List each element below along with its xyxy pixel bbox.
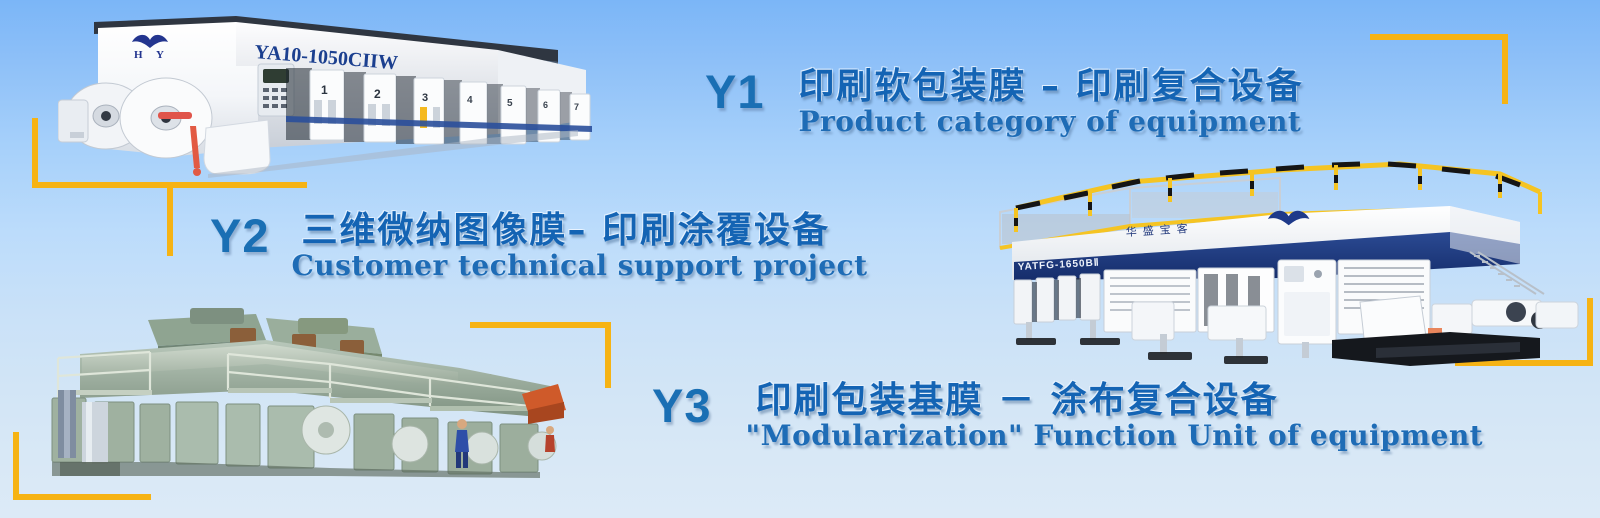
bracket-left-horizontal [32,182,167,188]
entry-y1-title-en: Product category of equipment [799,107,1304,136]
bracket-topright-vertical [1502,34,1508,104]
svg-text:2: 2 [374,87,381,101]
bracket-bottomleft-horizontal [13,494,151,500]
entry-y3-title-cn: 印刷包装基膜 － 涂布复合设备 [756,382,1484,421]
entry-y2-title-en: Customer technical support project [292,251,868,280]
bracket-left-vertical [32,118,38,188]
entry-y3-title-en: "Modularization" Function Unit of equipm… [746,421,1484,450]
svg-text:7: 7 [574,102,579,112]
bracket-y2-vertical [167,182,173,256]
bracket-bottomleft-vertical [13,432,19,500]
svg-text:1: 1 [321,83,328,97]
equipment-banner: YA10-1050CIIW H Y [0,0,1600,518]
bracket-y2-horizontal [167,182,307,188]
entry-y3-code: Y3 [652,382,712,429]
svg-text:4: 4 [467,95,473,106]
svg-text:5: 5 [507,98,513,109]
bracket-y3-vertical [605,322,611,388]
machine-base-film-coating-line [30,306,575,481]
svg-text:Y: Y [156,49,164,61]
entry-y2-code: Y2 [210,212,270,259]
bracket-topright-horizontal [1370,34,1508,40]
entry-y2: Y2 三维微纳图像膜– 印刷涂覆设备 Customer technical su… [210,212,868,280]
svg-text:H: H [134,49,143,61]
entry-y2-title-cn: 三维微纳图像膜– 印刷涂覆设备 [302,212,868,251]
entry-y1-title-cn: 印刷软包装膜 – 印刷复合设备 [799,68,1304,107]
svg-text:6: 6 [543,100,548,110]
entry-y1: Y1 印刷软包装膜 – 印刷复合设备 Product category of e… [705,68,1304,136]
machine-rotogravure-printing-press: YA10-1050CIIW H Y [58,8,598,178]
entry-y3: Y3 印刷包装基膜 － 涂布复合设备 "Modularization" Func… [652,382,1483,450]
machine-coating-laminating: 华盛宝客 YATFG-1650BⅡ [980,152,1590,367]
entry-y1-code: Y1 [705,68,765,115]
svg-text:3: 3 [422,92,428,104]
